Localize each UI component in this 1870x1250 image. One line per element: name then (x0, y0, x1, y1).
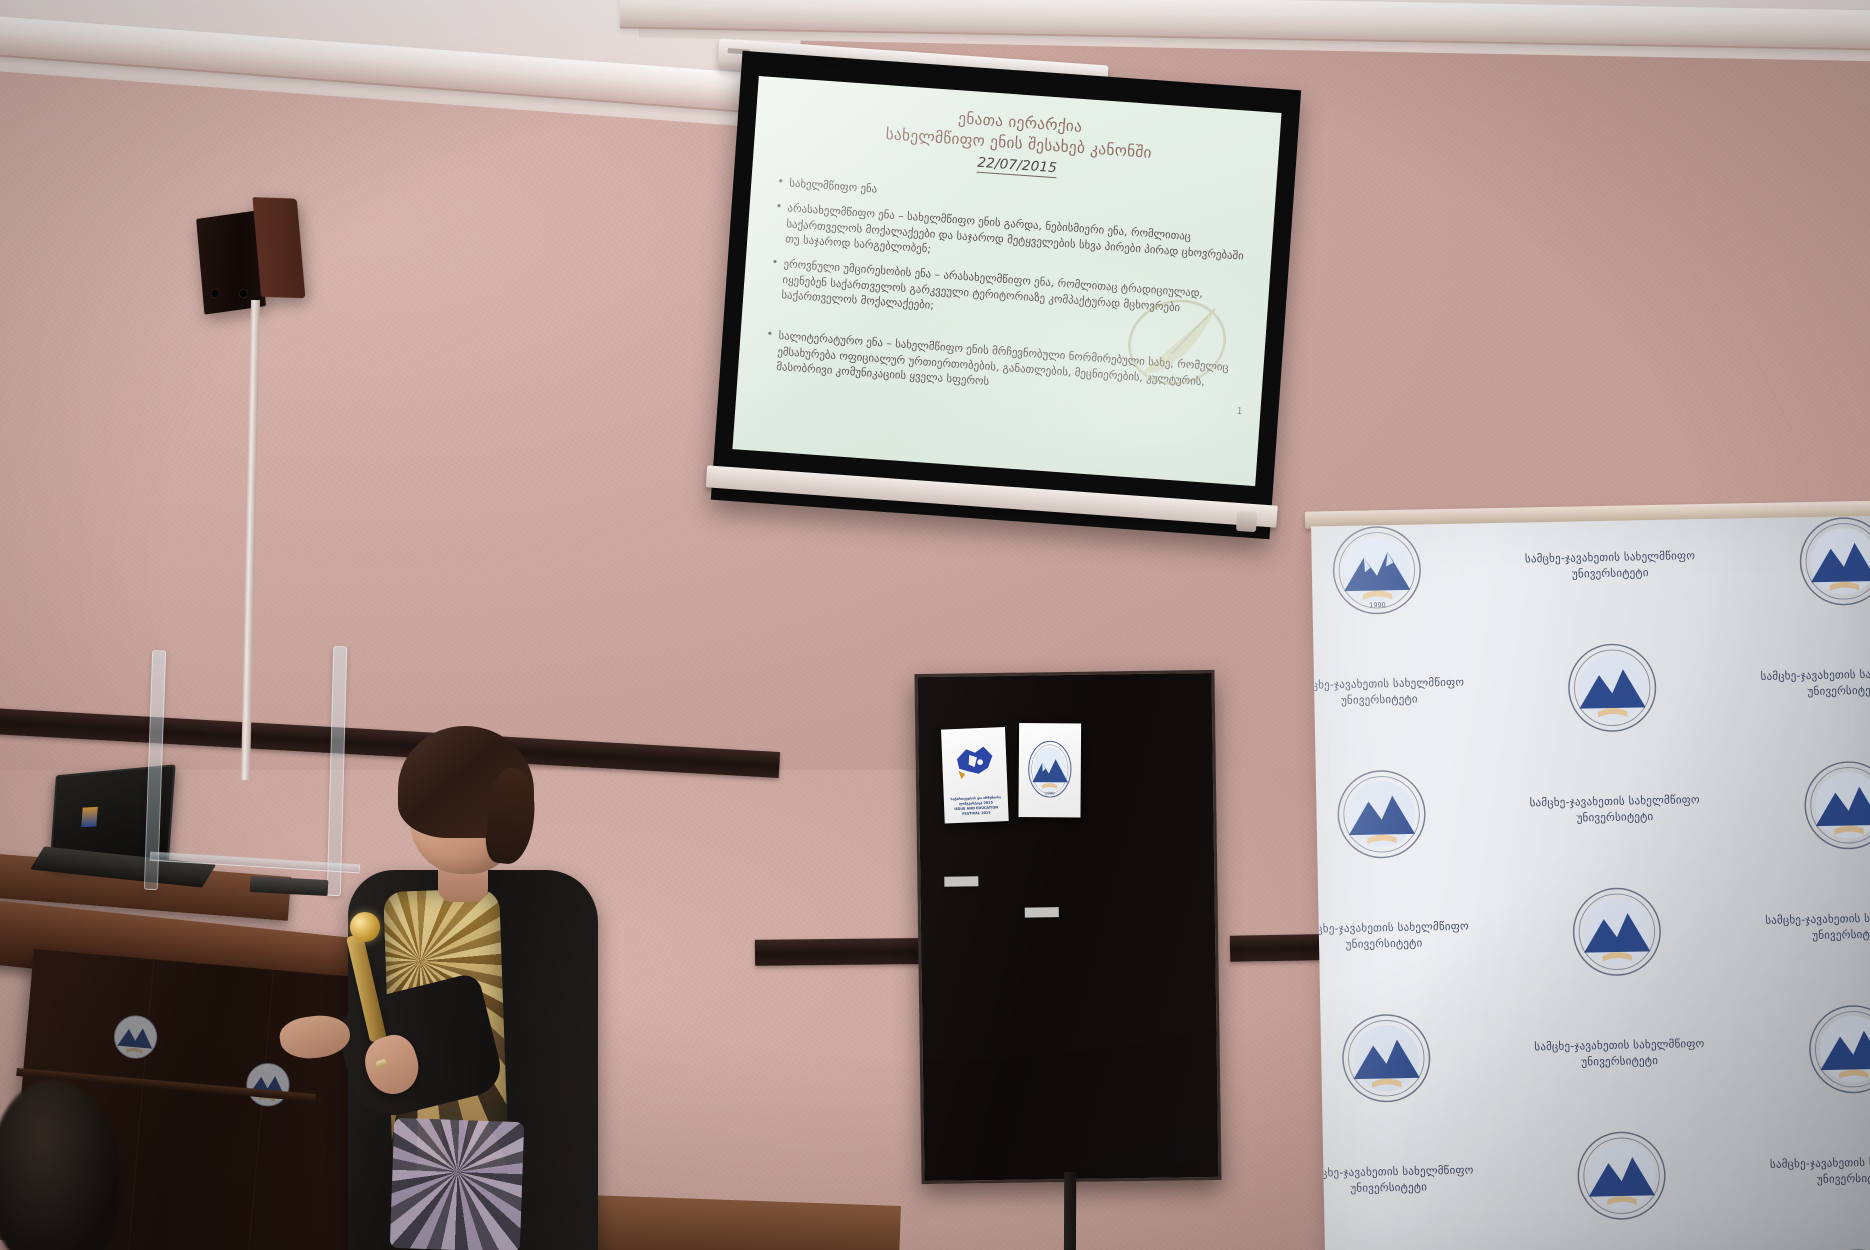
university-logo-icon (1339, 1011, 1433, 1105)
banner-logo-tile (1516, 1113, 1728, 1239)
university-logo-icon (1806, 1002, 1870, 1096)
university-logo-icon: 1990 (1330, 523, 1424, 617)
banner-org-name: სამცხე-ჯავახეთის სახელმწიფო უნივერსიტეტი (1740, 620, 1870, 746)
banner-logo-tile (1506, 625, 1718, 751)
university-logo-icon (1566, 641, 1660, 735)
pull-down-projection-screen: ენათა იერარქია სახელმწიფო ენის შესახებ კ… (711, 51, 1301, 539)
svg-text:1990: 1990 (1045, 791, 1055, 796)
banner-org-name: სამცხე-ჯავახეთის სახელმწიფო უნივერსიტეტი (1513, 991, 1725, 1117)
easel-stand-leg (1064, 1172, 1076, 1250)
slide-date: 22/07/2015 (977, 154, 1058, 179)
tape-strip (1025, 907, 1059, 917)
svg-text:1990: 1990 (1369, 601, 1386, 609)
rollup-banner: 1990 სამცხე-ჯავახეთის სახელმწიფო უნივერს… (1311, 501, 1870, 1250)
banner-org-name: სამცხე-ჯავახეთის სახელმწიფო უნივერსიტეტი (1504, 516, 1716, 629)
university-logo-icon (1335, 767, 1429, 861)
banner-logo-tile (1311, 751, 1488, 877)
banner-org-name: სამცხე-ჯავახეთის სახელმწიფო უნივერსიტეტი (1744, 864, 1870, 990)
conference-poster: საქართველოს და არმენიისა ლინგვისტიკა 201… (941, 727, 1009, 823)
female-presenter (330, 720, 610, 1250)
banner-logo-tile (1311, 995, 1492, 1121)
speaker-driver (210, 288, 220, 298)
projected-slide: ენათა იერარქია სახელმწიფო ენის შესახებ კ… (732, 76, 1281, 486)
university-logo-icon (1801, 758, 1870, 852)
banner-logo-tile: 1990 (1311, 516, 1483, 634)
easel-black-board: საქართველოს და არმენიისა ლინგვისტიკა 201… (914, 670, 1221, 1184)
banner-print-area: 1990 სამცხე-ჯავახეთის სახელმწიფო უნივერს… (1311, 516, 1870, 1250)
conference-room-photo: ენათა იერარქია სახელმწიფო ენის შესახებ კ… (0, 0, 1870, 1250)
university-logo-icon (1811, 1246, 1870, 1250)
open-laptop[interactable] (36, 765, 183, 884)
university-logo-icon (1570, 885, 1664, 979)
banner-org-name: სამცხე-ჯავახეთის სახელმწიფო უნივერსიტეტი (1311, 873, 1490, 999)
display-easel: საქართველოს და არმენიისა ლინგვისტიკა 201… (914, 670, 1221, 1184)
banner-org-name: სამცხე-ჯავახეთის სახელმწიფო უნივერსიტეტი (1509, 747, 1721, 873)
banner-logo-tile (1742, 742, 1870, 868)
university-logo-icon (1575, 1129, 1669, 1223)
presenter-scarf-lower (390, 1118, 524, 1250)
slide-content: ენათა იერარქია სახელმწიფო ენის შესახებ კ… (732, 76, 1281, 486)
banner-logo-tile (1751, 1230, 1870, 1250)
banner-logo-tile (1747, 986, 1870, 1112)
slide-page-number: 1 (1236, 407, 1242, 417)
banner-tile-grid: 1990 სამცხე-ჯავახეთის სახელმწიფო უნივერს… (1311, 516, 1870, 1250)
quill-pen-watermark (1113, 278, 1241, 406)
university-logo-poster: 1990 (1018, 723, 1081, 817)
podium-plank-seam (127, 959, 154, 1250)
banner-org-name: სამცხე-ჯავახეთის სახელმწიფო უნივერსიტეტი (1311, 1117, 1495, 1243)
tape-strip (944, 876, 978, 886)
poster-caption: საქართველოს და არმენიისა ლინგვისტიკა 201… (948, 795, 1005, 817)
banner-logo-tile (1737, 516, 1870, 625)
university-logo-icon (1797, 516, 1870, 609)
university-logo-icon: 1990 (1026, 737, 1074, 801)
slide-title: ენათა იერარქია სახელმწიფო ენის შესახებ კ… (779, 96, 1258, 193)
screen-pull-knob[interactable] (1236, 511, 1257, 532)
banner-org-name: სამცხე-ჯავახეთის სახელმწიფო უნივერსიტეტი (1311, 629, 1485, 755)
banner-logo-tile (1511, 869, 1723, 995)
banner-org-name: სამცხე-ჯავახეთის სახელმწიფო უნივერსიტეტი (1749, 1108, 1870, 1234)
blue-map-graphic-icon (949, 737, 999, 791)
university-seal-sticker (243, 1060, 293, 1110)
podium-plank-seam (247, 970, 274, 1250)
laptop-sticker (81, 807, 97, 827)
university-seal-sticker (111, 1012, 161, 1062)
speaker-side-panel (252, 197, 305, 298)
wall-mounted-loudspeaker (196, 205, 302, 316)
speaker-driver (238, 288, 248, 298)
poster-caption-line3: ISSUE AND EDUCATION FESTIVAL 2015 (948, 805, 1004, 817)
